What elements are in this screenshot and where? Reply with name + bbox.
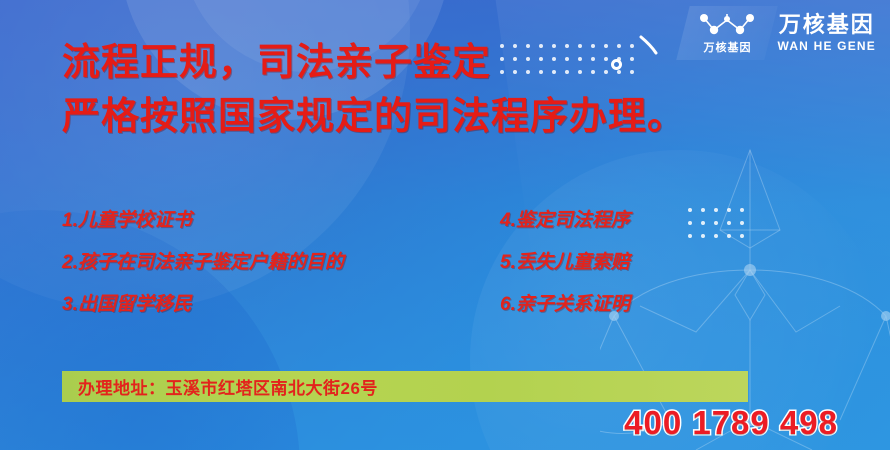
headline-line-2: 严格按照国家规定的司法程序办理。 — [62, 90, 686, 144]
list-item: 1.儿童学校证书 — [62, 200, 344, 242]
list-item: 6.亲子关系证明 — [500, 284, 630, 326]
brand-logo[interactable]: 万核基因 万核基因 WAN HE GENE — [689, 8, 876, 58]
logo-badge: 万核基因 — [689, 8, 765, 58]
headline: 流程正规，司法亲子鉴定 严格按照国家规定的司法程序办理。 — [62, 36, 686, 144]
phone-number[interactable]: 400 1789 498 — [624, 404, 838, 442]
logo-wordmark: 万核基因 WAN HE GENE — [777, 13, 876, 52]
list-item: 4.鉴定司法程序 — [500, 200, 630, 242]
headline-line-1: 流程正规，司法亲子鉴定 — [62, 36, 686, 90]
service-list-left: 1.儿童学校证书 2.孩子在司法亲子鉴定户籍的目的 3.出国留学移民 — [62, 200, 344, 326]
logo-badge-text: 万核基因 — [703, 39, 751, 55]
logo-name-en: WAN HE GENE — [777, 39, 876, 53]
list-item: 5.丢失儿童索赔 — [500, 242, 630, 284]
list-item: 3.出国留学移民 — [62, 284, 344, 326]
dot-grid-icon — [688, 208, 753, 247]
promo-banner: 万核基因 万核基因 WAN HE GENE 流程正规，司法亲子鉴定 严格按照国家… — [0, 0, 890, 450]
dna-molecule-icon — [697, 12, 757, 38]
logo-name-cn: 万核基因 — [779, 13, 875, 36]
address-bar: 办理地址：玉溪市红塔区南北大街26号 — [62, 371, 748, 402]
service-list-right: 4.鉴定司法程序 5.丢失儿童索赔 6.亲子关系证明 — [500, 200, 630, 326]
address-text: 办理地址：玉溪市红塔区南北大街26号 — [62, 374, 378, 399]
list-item: 2.孩子在司法亲子鉴定户籍的目的 — [62, 242, 344, 284]
